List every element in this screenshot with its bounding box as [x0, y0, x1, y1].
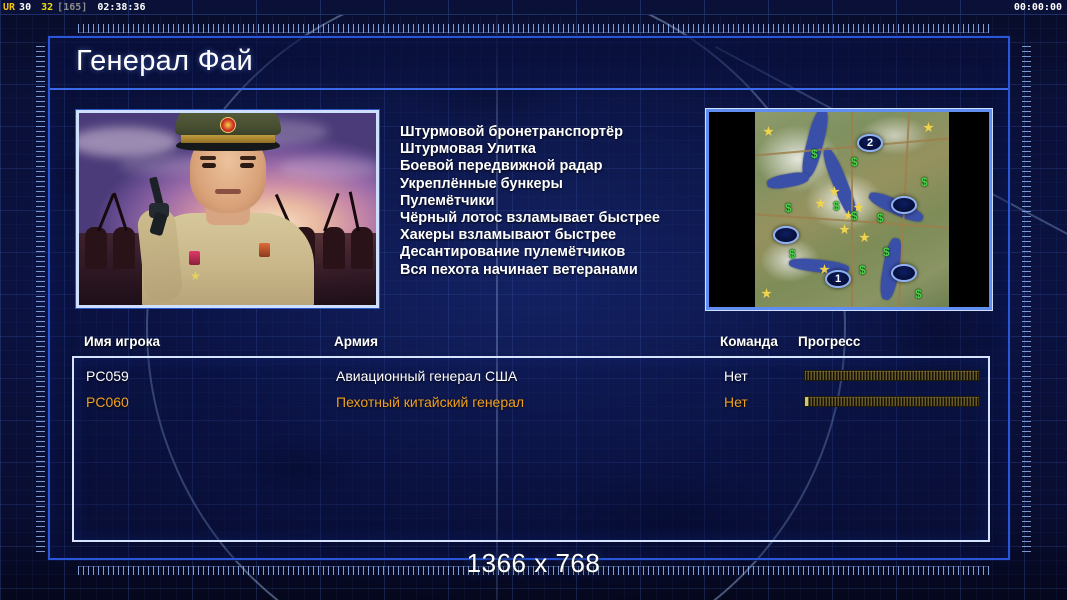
start-position-label: 2 — [867, 137, 873, 149]
page-title: Генерал Фай — [76, 45, 253, 78]
supply-dock-icon: $ — [789, 248, 799, 260]
player-name: PC060 — [86, 390, 129, 414]
ability-item: Штурмовая Улитка — [400, 141, 730, 158]
general-abilities-list: Штурмовой бронетранспортёр Штурмовая Ули… — [400, 124, 730, 279]
eyebrow — [200, 156, 216, 160]
table-row[interactable]: PC059 Авиационный генерал США Нет — [74, 364, 988, 388]
status-bar: UR30 32[165] 02:38:36 00:00:00 — [0, 0, 1067, 15]
ruler-right — [1022, 46, 1031, 556]
start-position-marker[interactable] — [891, 196, 917, 214]
ability-item: Штурмовой бронетранспортёр — [400, 124, 730, 141]
ruler-left — [36, 46, 45, 556]
ability-item: Чёрный лотос взламывает быстрее — [400, 210, 730, 227]
eyebrow — [240, 156, 256, 160]
start-position-marker[interactable] — [891, 264, 917, 282]
start-position-label: 1 — [835, 273, 841, 285]
map-terrain: $ $ $ $ $ $ $ $ $ $ $ 2 1 — [755, 112, 949, 307]
ability-item: Боевой передвижной радар — [400, 158, 730, 175]
column-header-progress[interactable]: Прогресс — [798, 334, 860, 349]
tech-building-icon — [859, 232, 870, 243]
ur-label: UR — [3, 2, 15, 13]
revolver-icon — [143, 177, 189, 231]
tech-building-icon — [839, 224, 850, 235]
progress-indicator — [805, 397, 808, 406]
supply-dock-icon: $ — [859, 264, 869, 276]
player-team[interactable]: Нет — [724, 390, 748, 414]
table-row[interactable]: PC060 Пехотный китайский генерал Нет — [74, 390, 988, 414]
player-progress-bar — [804, 370, 980, 381]
ability-item: Десантирование пулемётчиков — [400, 244, 730, 261]
medal-icon — [259, 243, 270, 257]
eye — [240, 163, 254, 168]
tech-building-icon — [923, 122, 934, 133]
player-army[interactable]: Пехотный китайский генерал — [336, 390, 524, 414]
elapsed-timer: 02:38:36 — [97, 2, 145, 13]
player-team[interactable]: Нет — [724, 364, 748, 388]
start-position-marker[interactable]: 2 — [857, 134, 883, 152]
map-preview[interactable]: $ $ $ $ $ $ $ $ $ $ $ 2 1 — [706, 109, 992, 310]
ability-item: Пулемётчики — [400, 193, 730, 210]
supply-dock-icon: $ — [811, 148, 821, 160]
supply-dock-icon: $ — [877, 212, 887, 224]
game-lobby-screen: UR30 32[165] 02:38:36 00:00:00 Генерал Ф… — [0, 0, 1067, 600]
supply-dock-icon: $ — [851, 156, 861, 168]
fps-value-alt: 32 — [41, 2, 53, 13]
river — [766, 170, 810, 190]
eye — [202, 163, 216, 168]
title-bar: Генерал Фай — [50, 38, 1008, 90]
performance-readout: UR30 32[165] 02:38:36 — [3, 0, 149, 15]
mouth — [215, 189, 241, 194]
tech-building-icon — [761, 288, 772, 299]
tech-building-icon — [815, 198, 826, 209]
cap-emblem-icon — [220, 117, 236, 133]
tech-building-icon — [763, 126, 774, 137]
player-name: PC059 — [86, 364, 129, 388]
ability-item: Вся пехота начинает ветеранами — [400, 262, 730, 279]
ruler-top — [78, 24, 989, 33]
column-header-name[interactable]: Имя игрока — [84, 334, 160, 349]
frame-count: [165] — [57, 2, 87, 13]
supply-dock-icon: $ — [915, 288, 925, 300]
resolution-label: 1366 x 768 — [0, 548, 1067, 579]
start-position-marker[interactable] — [773, 226, 799, 244]
supply-dock-icon: $ — [921, 176, 931, 188]
soldier-silhouette — [323, 227, 345, 269]
player-army[interactable]: Авиационный генерал США — [336, 364, 517, 388]
fps-value: 30 — [19, 2, 31, 13]
general-figure — [135, 131, 321, 308]
soldier-silhouette — [85, 227, 107, 269]
ability-item: Укреплённые бункеры — [400, 176, 730, 193]
column-header-team[interactable]: Команда — [720, 334, 778, 349]
soldier-silhouette — [351, 227, 373, 269]
soldier-silhouette — [113, 227, 135, 269]
supply-dock-icon: $ — [883, 246, 893, 258]
general-portrait — [76, 110, 379, 308]
supply-dock-icon: $ — [785, 202, 795, 214]
player-progress-bar — [804, 396, 980, 407]
player-list: PC059 Авиационный генерал США Нет PC060 … — [72, 356, 990, 542]
main-panel: Генерал Фай — [48, 36, 1010, 560]
supply-dock-icon: $ — [851, 210, 861, 222]
medal-icon — [189, 251, 200, 265]
player-table-header: Имя игрока Армия Команда Прогресс — [50, 334, 1008, 356]
column-header-army[interactable]: Армия — [334, 334, 378, 349]
status-bar-cells — [0, 0, 1067, 14]
session-clock: 00:00:00 — [1014, 0, 1062, 15]
supply-dock-icon: $ — [833, 200, 843, 212]
ability-item: Хакеры взламывают быстрее — [400, 227, 730, 244]
content-row: Штурмовой бронетранспортёр Штурмовая Ули… — [50, 90, 1008, 328]
start-position-marker[interactable]: 1 — [825, 270, 851, 288]
